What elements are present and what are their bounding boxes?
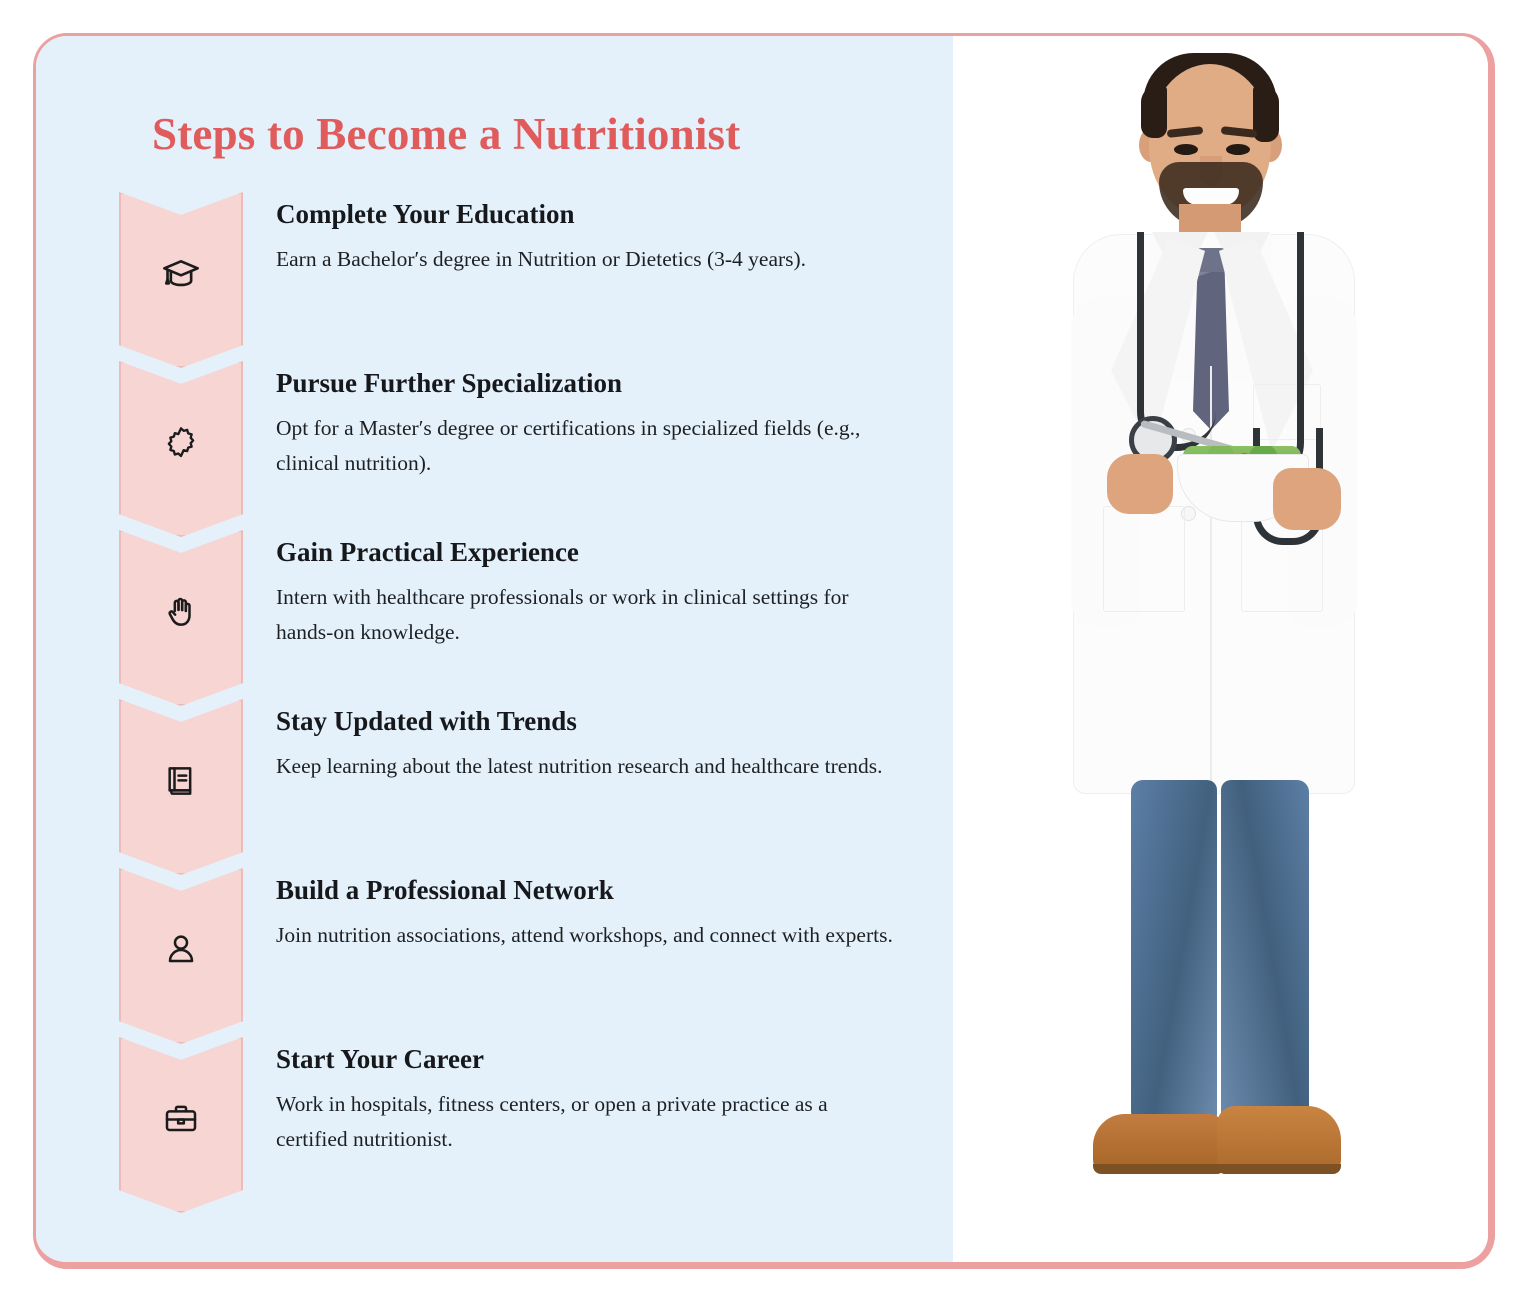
step-chevron [119,530,243,706]
step-item[interactable]: Build a Professional Network Join nutrit… [36,868,953,1037]
person-icon [119,930,243,970]
step-title: Gain Practical Experience [276,538,896,568]
step-title: Start Your Career [276,1045,896,1075]
hand-icon [119,592,243,632]
step-description: Opt for a Masterʹs degree or certificati… [276,411,896,481]
left-pocket [1103,506,1185,612]
left-shoe-sole [1093,1164,1225,1174]
step-chevron [119,868,243,1044]
steps-list: Complete Your Education Earn a Bachelorʹ… [36,192,953,1206]
step-chevron [119,361,243,537]
step-item[interactable]: Start Your Career Work in hospitals, fit… [36,1037,953,1206]
hair-side-left [1141,86,1167,138]
nutritionist-photo [953,36,1488,1262]
step-description: Join nutrition associations, attend work… [276,918,896,953]
left-jeans-leg [1131,780,1217,1130]
mouth [1183,188,1239,205]
step-description: Keep learning about the latest nutrition… [276,749,896,784]
step-chevron [119,699,243,875]
step-text: Pursue Further Specialization Opt for a … [276,369,896,480]
briefcase-icon [119,1099,243,1139]
step-text: Stay Updated with Trends Keep learning a… [276,707,896,784]
left-eye [1174,144,1198,155]
step-title: Stay Updated with Trends [276,707,896,737]
badge-starburst-icon [119,423,243,463]
right-eye [1226,144,1250,155]
step-text: Start Your Career Work in hospitals, fit… [276,1045,896,1156]
step-chevron [119,1037,243,1213]
step-item[interactable]: Complete Your Education Earn a Bachelorʹ… [36,192,953,361]
step-title: Complete Your Education [276,200,896,230]
page-title: Steps to Become a Nutritionist [152,108,740,160]
step-item[interactable]: Stay Updated with Trends Keep learning a… [36,699,953,868]
graduation-cap-icon [119,254,243,296]
step-description: Work in hospitals, fitness centers, or o… [276,1087,896,1157]
left-hand [1107,454,1173,514]
step-description: Earn a Bachelorʹs degree in Nutrition or… [276,242,896,277]
content-panel: Steps to Become a Nutritionist [36,36,953,1262]
step-text: Build a Professional Network Join nutrit… [276,876,896,953]
infographic-card: Steps to Become a Nutritionist [33,33,1495,1269]
step-title: Build a Professional Network [276,876,896,906]
step-text: Gain Practical Experience Intern with he… [276,538,896,649]
step-chevron [119,192,243,368]
step-title: Pursue Further Specialization [276,369,896,399]
right-jeans-leg [1221,780,1309,1136]
right-shoe [1217,1106,1341,1172]
step-item[interactable]: Pursue Further Specialization Opt for a … [36,361,953,530]
right-hand [1273,468,1341,530]
step-description: Intern with healthcare professionals or … [276,580,896,650]
book-icon [119,761,243,801]
person-illustration [953,36,1488,1262]
step-item[interactable]: Gain Practical Experience Intern with he… [36,530,953,699]
right-shoe-sole [1217,1164,1341,1174]
step-text: Complete Your Education Earn a Bachelorʹ… [276,200,896,277]
